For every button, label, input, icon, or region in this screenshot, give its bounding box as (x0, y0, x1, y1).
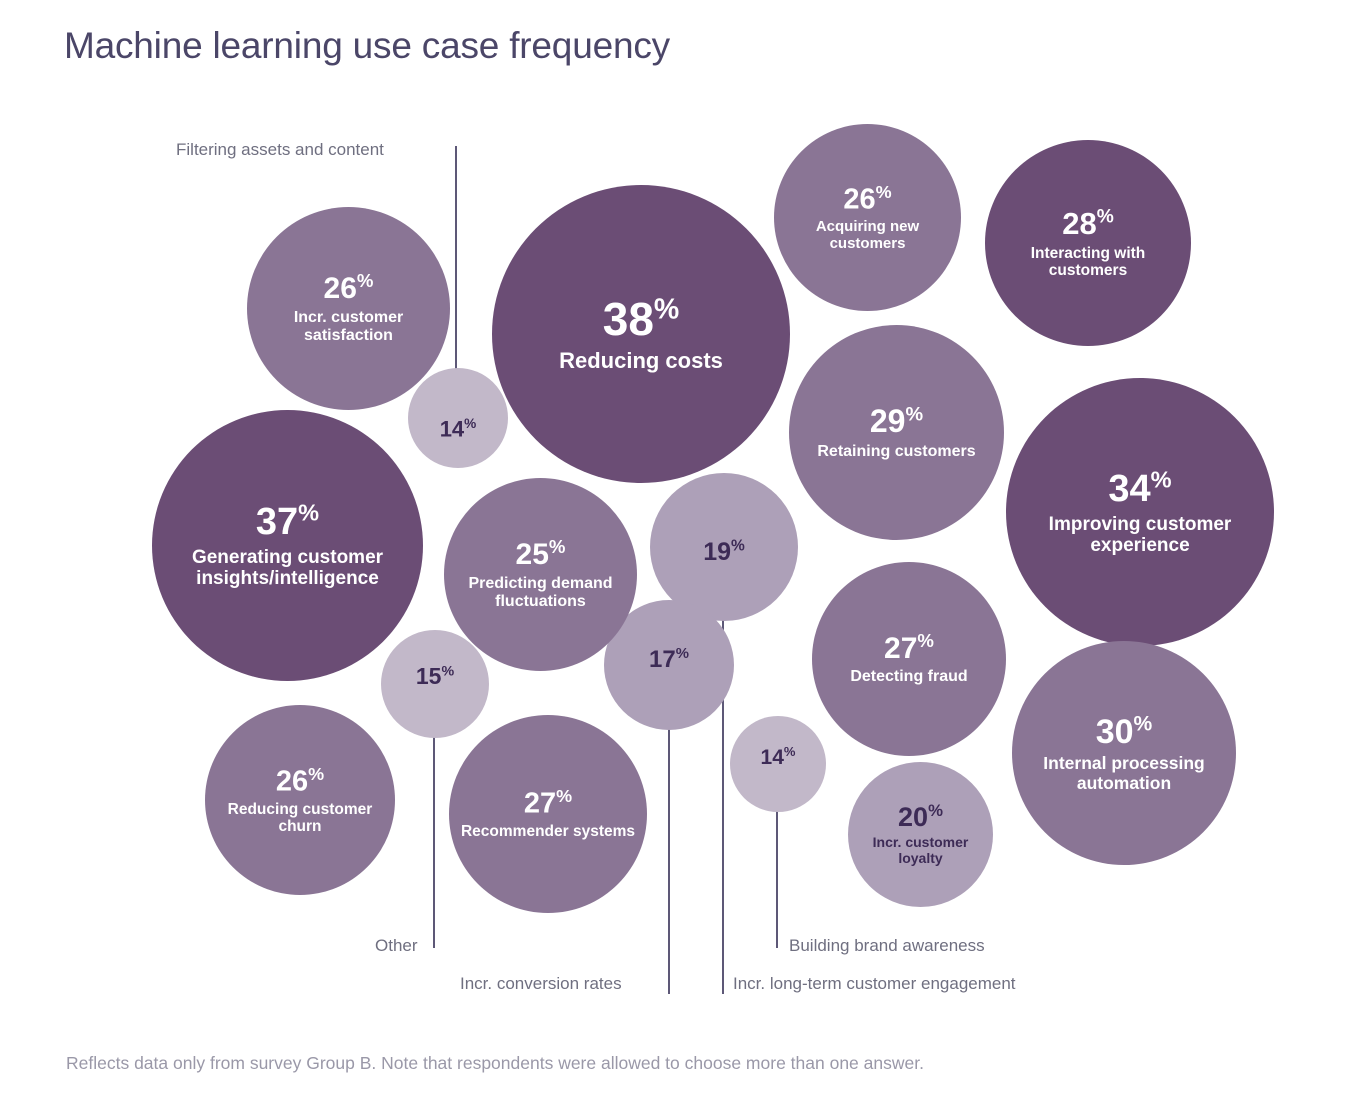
bubble-filtering-assets[interactable]: 14% (408, 368, 508, 468)
bubble-generating-insights[interactable]: 37% Generating customer insights/intelli… (152, 410, 423, 681)
bubble-label: Recommender systems (455, 823, 641, 840)
bubble-label: Detecting fraud (844, 668, 973, 686)
bubble-value: 30% (1096, 713, 1153, 751)
bubble-acquiring-customers[interactable]: 26% Acquiring new customers (774, 124, 961, 311)
bubble-label: Interacting with customers (985, 245, 1191, 280)
annotation-brand-awareness: Building brand awareness (789, 937, 985, 954)
bubble-internal-automation[interactable]: 30% Internal processing automation (1012, 641, 1236, 865)
bubble-interacting-customers[interactable]: 28% Interacting with customers (985, 140, 1191, 346)
bubble-label: Reducing customer churn (205, 801, 395, 836)
bubble-brand-awareness[interactable]: 14% (730, 716, 826, 812)
bubble-reducing-costs[interactable]: 38% Reducing costs (492, 185, 790, 483)
bubble-value: 26% (324, 272, 374, 306)
bubble-value: 25% (516, 538, 566, 572)
leader-line-filtering-assets (447, 146, 466, 391)
bubble-recommender-systems[interactable]: 27% Recommender systems (449, 715, 647, 913)
bubble-detecting-fraud[interactable]: 27% Detecting fraud (812, 562, 1006, 756)
bubble-value: 38% (603, 294, 680, 346)
annotation-filtering-assets: Filtering assets and content (176, 141, 384, 158)
bubble-value: 27% (524, 787, 572, 820)
bubble-value: 14% (761, 745, 796, 770)
infographic-page: Machine learning use case frequency (0, 0, 1358, 1103)
bubble-value: 20% (898, 802, 943, 832)
bubble-long-term-engagement[interactable]: 19% (650, 473, 798, 621)
bubble-incr-loyalty[interactable]: 20% Incr. customer loyalty (848, 762, 993, 907)
bubble-label: Generating customer insights/intelligenc… (152, 547, 423, 590)
bubble-label: Acquiring new customers (774, 219, 961, 253)
bubble-label: Incr. customer loyalty (848, 835, 993, 866)
bubble-label: Internal processing automation (1012, 754, 1236, 793)
bubble-label: Improving customer experience (1006, 514, 1274, 557)
leader-line-other (425, 706, 444, 949)
bubble-other[interactable]: 15% (381, 630, 489, 738)
bubble-value: 19% (703, 538, 745, 566)
bubble-value: 27% (884, 632, 934, 666)
bubble-improving-cx[interactable]: 34% Improving customer experience (1006, 378, 1274, 646)
bubble-value: 17% (649, 647, 689, 674)
bubble-incr-satisfaction[interactable]: 26% Incr. customer satisfaction (247, 207, 450, 410)
bubble-value: 26% (843, 183, 891, 216)
annotation-long-term-engagement: Incr. long-term customer engagement (733, 975, 1016, 992)
bubble-value: 37% (256, 501, 319, 544)
annotation-conversion-rates: Incr. conversion rates (460, 975, 622, 992)
bubble-value: 15% (416, 664, 454, 690)
bubble-chart-plot-area: 26% Incr. customer satisfaction 38% Redu… (0, 0, 1358, 1020)
bubble-value: 34% (1108, 468, 1171, 511)
bubble-label: Reducing costs (553, 349, 729, 374)
bubble-reducing-churn[interactable]: 26% Reducing customer churn (205, 705, 395, 895)
bubble-predicting-demand[interactable]: 25% Predicting demand fluctuations (444, 478, 637, 671)
bubble-value: 14% (440, 417, 477, 442)
bubble-label: Predicting demand fluctuations (444, 575, 637, 611)
bubble-value: 26% (276, 765, 324, 798)
annotation-other: Other (375, 937, 418, 954)
bubble-retaining-customers[interactable]: 29% Retaining customers (789, 325, 1004, 540)
bubble-label: Incr. customer satisfaction (247, 309, 450, 345)
bubble-value: 28% (1062, 207, 1114, 242)
footnote: Reflects data only from survey Group B. … (66, 1053, 924, 1074)
bubble-value: 29% (870, 404, 923, 440)
bubble-label: Retaining customers (811, 443, 981, 461)
